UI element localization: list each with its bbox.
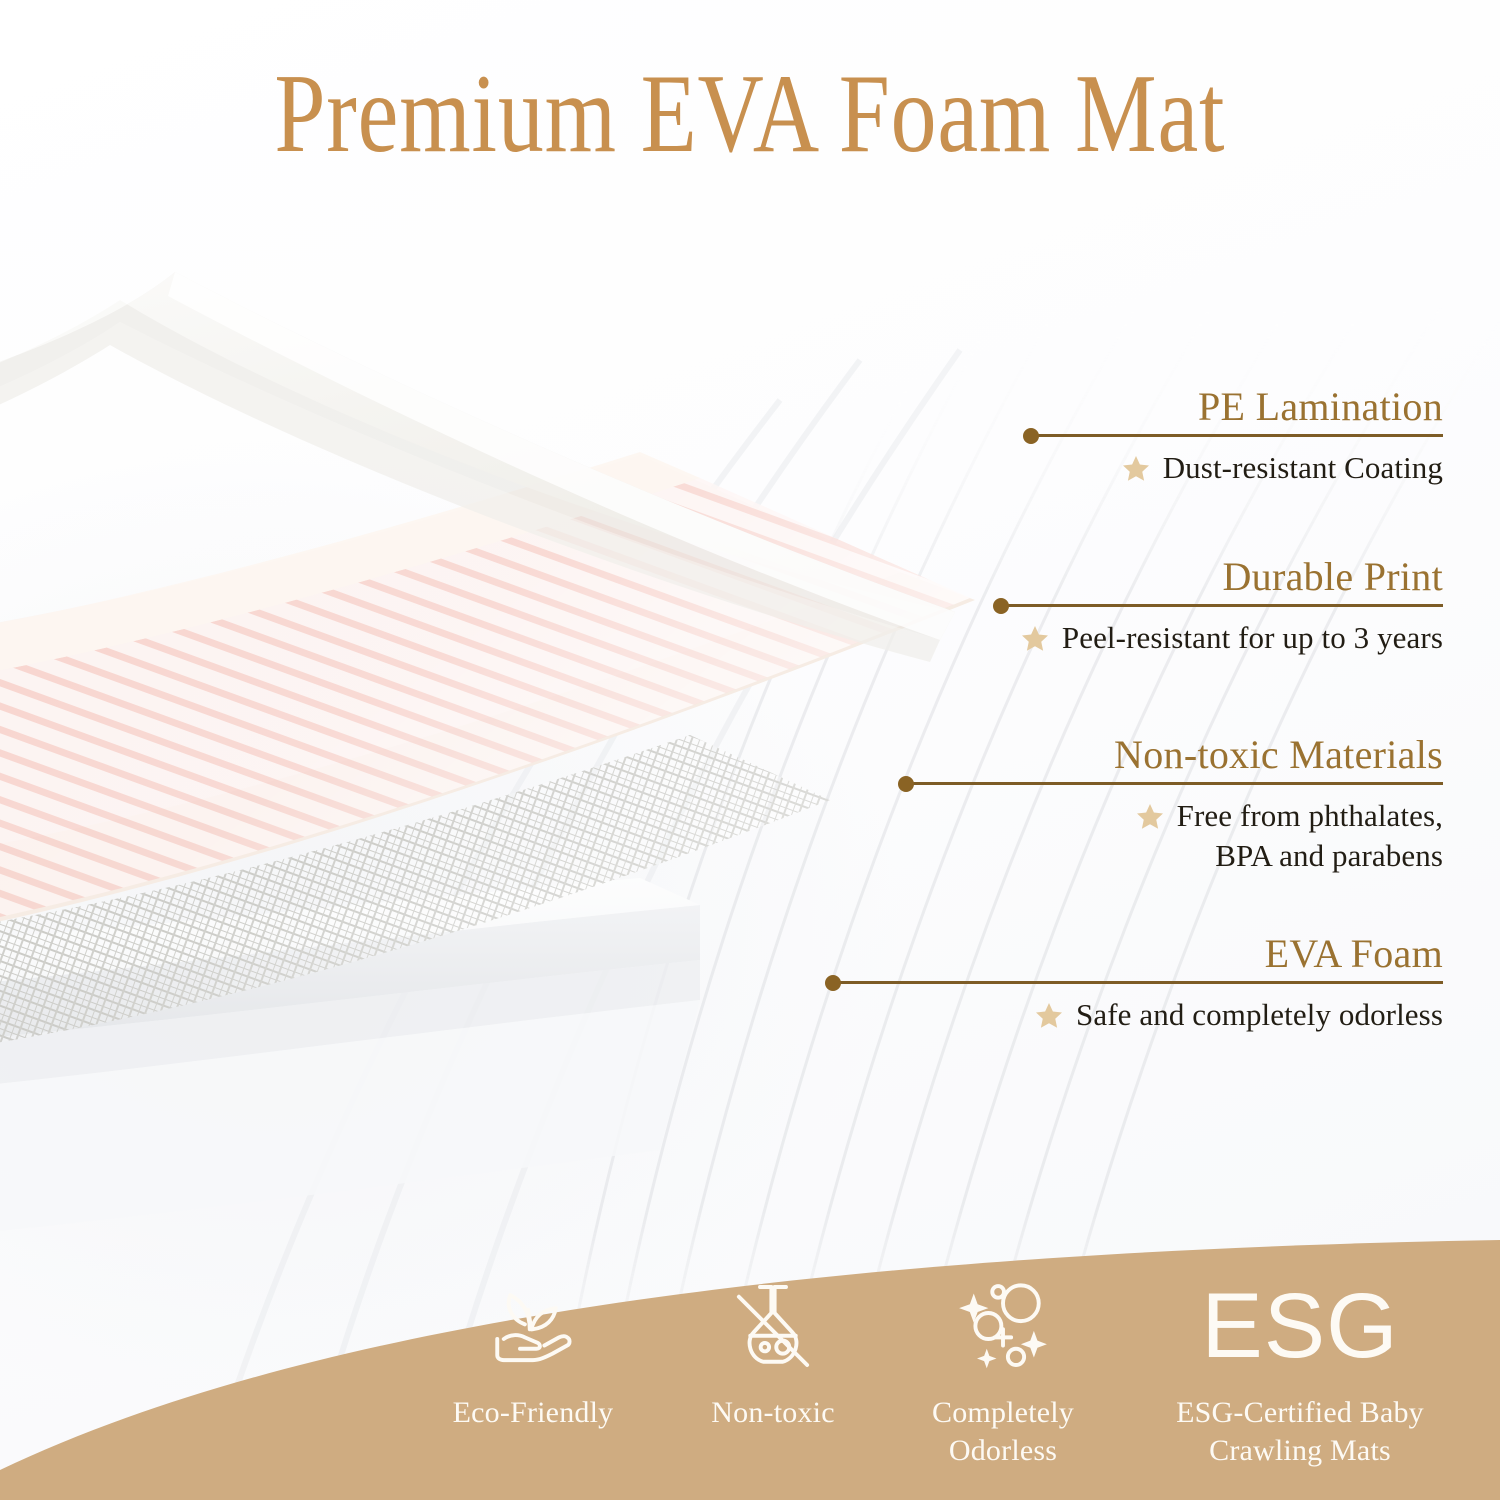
- feature-label: ESG-Certified Baby Crawling Mats: [1176, 1394, 1424, 1469]
- feature-non-toxic: Non-toxic: [683, 1268, 863, 1432]
- feature-label: Eco-Friendly: [453, 1394, 614, 1432]
- callout-detail: Safe and completely odorless: [1076, 995, 1443, 1035]
- sparkles-icon: [951, 1268, 1055, 1384]
- feature-label: Completely Odorless: [932, 1394, 1074, 1469]
- features-list: Eco-Friendly Non-toxic: [0, 1240, 1500, 1500]
- callout-rule: [1000, 604, 1443, 607]
- hand-sprout-icon: [481, 1268, 585, 1384]
- callout-rule: [905, 782, 1443, 785]
- callout-heading: Non-toxic Materials: [1114, 734, 1443, 776]
- callout-detail-row: Peel-resistant for up to 3 years: [1020, 618, 1443, 659]
- callout-rule: [1030, 434, 1443, 437]
- star-icon: [1034, 1001, 1064, 1036]
- feature-eco-friendly: Eco-Friendly: [443, 1268, 623, 1432]
- star-icon: [1121, 454, 1151, 489]
- callout-detail: Free from phthalates, BPA and parabens: [1177, 796, 1443, 875]
- esg-wordmark-text: ESG: [1201, 1280, 1398, 1372]
- esg-wordmark: ESG: [1201, 1268, 1398, 1384]
- callout-dot-icon: [993, 598, 1009, 614]
- callout-detail-row: Free from phthalates, BPA and parabens: [1135, 796, 1443, 875]
- callout-heading: EVA Foam: [1265, 933, 1443, 975]
- callout-heading: Durable Print: [1222, 556, 1443, 598]
- feature-label: Non-toxic: [711, 1394, 834, 1432]
- callout-dot-icon: [1023, 428, 1039, 444]
- feature-completely-odorless: Completely Odorless: [903, 1268, 1103, 1469]
- callout-detail-row: Dust-resistant Coating: [1121, 448, 1443, 489]
- feature-esg-certified: ESG ESG-Certified Baby Crawling Mats: [1150, 1268, 1450, 1469]
- star-icon: [1020, 624, 1050, 659]
- callout-detail: Peel-resistant for up to 3 years: [1062, 618, 1443, 658]
- no-flask-icon: [721, 1268, 825, 1384]
- callout-heading: PE Lamination: [1198, 386, 1443, 428]
- callout-dot-icon: [898, 776, 914, 792]
- star-icon: [1135, 802, 1165, 837]
- callout-dot-icon: [825, 975, 841, 991]
- callout-detail: Dust-resistant Coating: [1163, 448, 1443, 488]
- callout-detail-row: Safe and completely odorless: [1034, 995, 1443, 1036]
- callout-rule: [832, 981, 1443, 984]
